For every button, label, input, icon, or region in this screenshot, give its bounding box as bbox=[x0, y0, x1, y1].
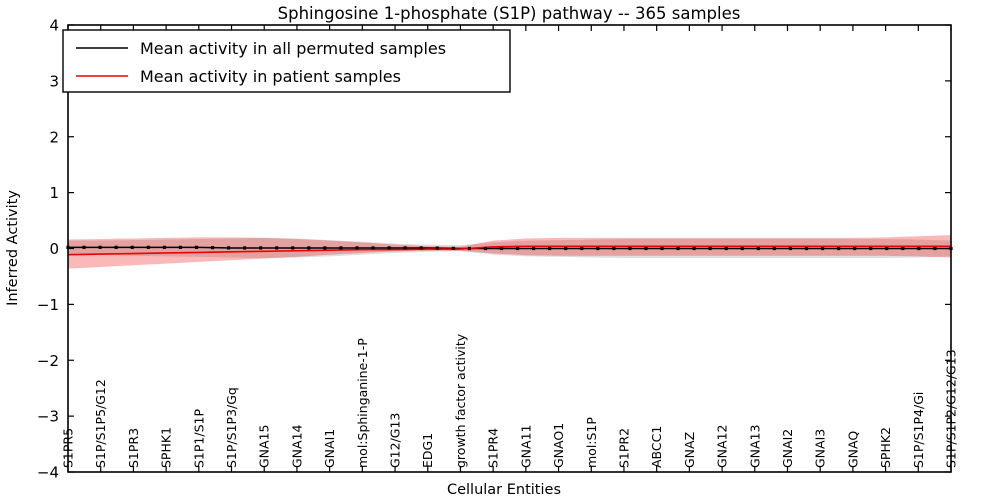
x-tick-label: GNA13 bbox=[747, 425, 762, 469]
series-marker-dot bbox=[355, 246, 358, 249]
x-tick-label: S1P/S1P4/Gi bbox=[911, 392, 926, 468]
series-marker-dot bbox=[339, 246, 342, 249]
x-tick-label: GNAZ bbox=[682, 432, 697, 468]
series-marker-dot bbox=[644, 247, 647, 250]
y-tick-label: −4 bbox=[37, 464, 59, 482]
series-marker-dot bbox=[885, 247, 888, 250]
x-tick-label: GNAQ bbox=[845, 431, 860, 468]
y-tick-label: −2 bbox=[37, 352, 59, 370]
series-marker-dot bbox=[291, 246, 294, 249]
x-tick-label: GNAI3 bbox=[813, 429, 828, 468]
x-tick-label: GNA15 bbox=[257, 424, 272, 468]
series-marker-dot bbox=[179, 246, 182, 249]
series-marker-dot bbox=[211, 246, 214, 249]
series-marker-dot bbox=[869, 247, 872, 250]
x-tick-label: mol:S1P bbox=[584, 417, 599, 468]
series-marker-dot bbox=[709, 247, 712, 250]
x-tick-label: S1P/S1P5/G12 bbox=[93, 379, 108, 468]
series-marker-dot bbox=[628, 247, 631, 250]
series-marker-dot bbox=[468, 247, 471, 250]
x-tick-label: S1P1/S1P bbox=[191, 409, 206, 468]
series-marker-dot bbox=[420, 246, 423, 249]
series-marker-dot bbox=[789, 247, 792, 250]
series-marker-dot bbox=[532, 247, 535, 250]
y-tick-label: −3 bbox=[37, 408, 59, 426]
series-marker-dot bbox=[580, 247, 583, 250]
series-marker-dot bbox=[484, 247, 487, 250]
x-tick-label: GNA14 bbox=[289, 424, 304, 468]
series-marker-dot bbox=[596, 247, 599, 250]
chart-title: Sphingosine 1-phosphate (S1P) pathway --… bbox=[278, 4, 741, 23]
series-marker-dot bbox=[404, 246, 407, 249]
x-tick-label: GNAI1 bbox=[322, 429, 337, 468]
x-tick-label: S1PR5 bbox=[61, 428, 76, 468]
x-tick-label: SPHK2 bbox=[878, 427, 893, 468]
y-tick-label: 4 bbox=[49, 17, 59, 35]
series-marker-dot bbox=[323, 246, 326, 249]
x-tick-label: ABCC1 bbox=[649, 426, 664, 468]
series-marker-dot bbox=[548, 247, 551, 250]
series-marker-dot bbox=[660, 247, 663, 250]
series-marker-dot bbox=[275, 246, 278, 249]
series-marker-dot bbox=[741, 247, 744, 250]
x-tick-label: S1PR3 bbox=[126, 428, 141, 468]
x-tick-label: GNAI2 bbox=[780, 429, 795, 468]
y-tick-label: 0 bbox=[49, 240, 59, 258]
series-marker-dot bbox=[676, 247, 679, 250]
series-marker-dot bbox=[452, 247, 455, 250]
y-tick-label: 3 bbox=[49, 72, 59, 90]
series-marker-dot bbox=[612, 247, 615, 250]
series-marker-dot bbox=[853, 247, 856, 250]
series-marker-dot bbox=[933, 247, 936, 250]
series-marker-dot bbox=[773, 247, 776, 250]
legend-label-permuted: Mean activity in all permuted samples bbox=[140, 39, 446, 58]
x-axis-title: Cellular Entities bbox=[447, 482, 561, 498]
series-marker-dot bbox=[436, 247, 439, 250]
series-marker-dot bbox=[387, 246, 390, 249]
series-marker-dot bbox=[227, 246, 230, 249]
series-marker-dot bbox=[82, 246, 85, 249]
chart-canvas: Sphingosine 1-phosphate (S1P) pathway --… bbox=[0, 0, 1000, 500]
series-marker-dot bbox=[805, 247, 808, 250]
series-marker-dot bbox=[821, 247, 824, 250]
x-tick-label: mol:Sphinganine-1-P bbox=[355, 338, 370, 468]
series-marker-dot bbox=[307, 246, 310, 249]
series-marker-dot bbox=[259, 246, 262, 249]
y-tick-label: −1 bbox=[37, 296, 59, 314]
chart-legend: Mean activity in all permuted samples Me… bbox=[63, 30, 510, 92]
y-tick-label: 2 bbox=[49, 128, 59, 146]
x-tick-label: GNAO1 bbox=[551, 423, 566, 468]
series-marker-dot bbox=[917, 247, 920, 250]
x-tick-label: S1P/S1P2/G12/G13 bbox=[944, 349, 959, 468]
y-axis-title: Inferred Activity bbox=[5, 190, 21, 306]
series-marker-dot bbox=[693, 247, 696, 250]
x-tick-label: GNA12 bbox=[715, 424, 730, 468]
series-marker-dot bbox=[147, 246, 150, 249]
series-marker-dot bbox=[725, 247, 728, 250]
x-tick-label: S1P/S1P3/Gq bbox=[224, 387, 239, 468]
series-marker-dot bbox=[371, 246, 374, 249]
x-tick-label: G12/G13 bbox=[388, 413, 403, 468]
series-marker-dot bbox=[564, 247, 567, 250]
series-marker-dot bbox=[195, 246, 198, 249]
series-marker-dot bbox=[500, 247, 503, 250]
series-marker-dot bbox=[115, 246, 118, 249]
x-tick-label: growth factor activity bbox=[453, 333, 468, 468]
x-tick-label: SPHK1 bbox=[159, 427, 174, 468]
x-tick-label: S1PR4 bbox=[486, 428, 501, 468]
series-marker-dot bbox=[901, 247, 904, 250]
series-marker-dot bbox=[837, 247, 840, 250]
x-tick-label: S1PR2 bbox=[616, 428, 631, 468]
series-marker-dot bbox=[163, 246, 166, 249]
y-tick-label: 1 bbox=[49, 184, 59, 202]
x-tick-label: EDG1 bbox=[420, 433, 435, 468]
x-tick-label: GNA11 bbox=[518, 424, 533, 468]
series-marker-dot bbox=[243, 246, 246, 249]
legend-label-patient: Mean activity in patient samples bbox=[140, 67, 401, 86]
series-marker-dot bbox=[99, 246, 102, 249]
chart-figure: Sphingosine 1-phosphate (S1P) pathway --… bbox=[0, 0, 1000, 500]
series-marker-dot bbox=[757, 247, 760, 250]
series-marker-dot bbox=[131, 246, 134, 249]
series-marker-dot bbox=[516, 247, 519, 250]
